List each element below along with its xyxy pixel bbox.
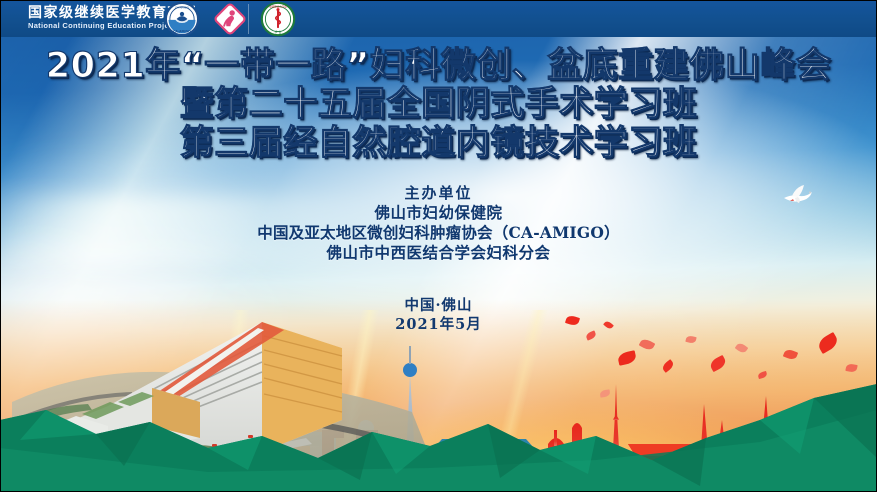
- title-line-2: 暨第二十五届全国阴式手术学习班: [0, 87, 877, 122]
- green-polygon-mountains: [0, 362, 877, 492]
- organizer-item-1: 佛山市妇幼保健院: [0, 203, 877, 223]
- svg-text:CA-AMIGO: CA-AMIGO: [175, 6, 189, 10]
- maternal-child-health-logo: [212, 1, 248, 37]
- ca-amigo-association-logo: CA-AMIGO CA-AMIGO: [164, 1, 200, 37]
- logo-row: CA-AMIGO CA-AMIGO: [164, 1, 296, 37]
- organizer-item-2: 中国及亚太地区微创妇科肿瘤协会（CA-AMIGO）: [0, 223, 877, 243]
- event-location: 中国·佛山: [0, 296, 877, 315]
- svg-text:中西医结合学会: 中西医结合学会: [269, 4, 287, 8]
- conference-poster: 国家级继续医学教育项目 National Continuing Educatio…: [0, 0, 877, 492]
- organizers-heading: 主办单位: [0, 183, 877, 203]
- organizers-block: 主办单位 佛山市妇幼保健院 中国及亚太地区微创妇科肿瘤协会（CA-AMIGO） …: [0, 183, 877, 263]
- header-bar: 国家级继续医学教育项目 National Continuing Educatio…: [0, 0, 877, 37]
- title-line-1: 2021年“一带一路”妇科微创、盆底重建佛山峰会: [0, 48, 877, 84]
- title-line-3: 第三届经自然腔道内镜技术学习班: [0, 126, 877, 161]
- organizer-item-3: 佛山市中西医结合学会妇科分会: [0, 243, 877, 263]
- svg-text:CA-AMIGO: CA-AMIGO: [173, 30, 191, 34]
- poster-title: 2021年“一带一路”妇科微创、盆底重建佛山峰会 暨第二十五届全国阴式手术学习班…: [0, 48, 877, 161]
- chinese-medicine-association-logo: 中西医结合学会 学 会: [260, 1, 296, 37]
- place-date-block: 中国·佛山 2021年5月: [0, 296, 877, 334]
- event-date: 2021年5月: [0, 315, 877, 334]
- svg-text:学 会: 学 会: [275, 29, 282, 34]
